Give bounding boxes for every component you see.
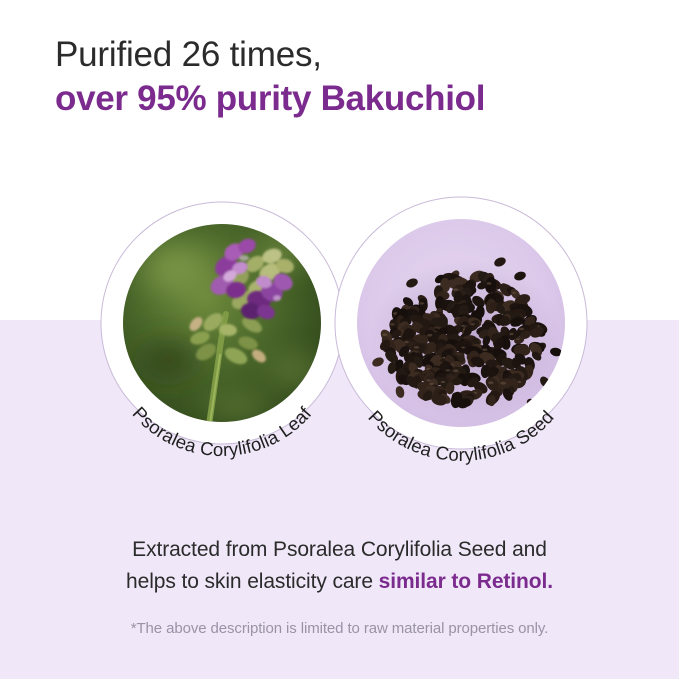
description-line-2: helps to skin elasticity care similar to… <box>0 566 679 598</box>
description-line-2-accent: similar to Retinol. <box>379 570 553 593</box>
figure-leaf[interactable] <box>101 202 343 444</box>
description-line-2-prefix: helps to skin elasticity care <box>126 570 379 593</box>
promo-banner: Purified 26 times, over 95% purity Bakuc… <box>0 0 679 679</box>
figure-seed[interactable] <box>335 197 587 449</box>
description-line-1: Extracted from Psoralea Corylifolia Seed… <box>0 534 679 566</box>
footnote: *The above description is limited to raw… <box>0 620 679 637</box>
description-block: Extracted from Psoralea Corylifolia Seed… <box>0 534 679 598</box>
